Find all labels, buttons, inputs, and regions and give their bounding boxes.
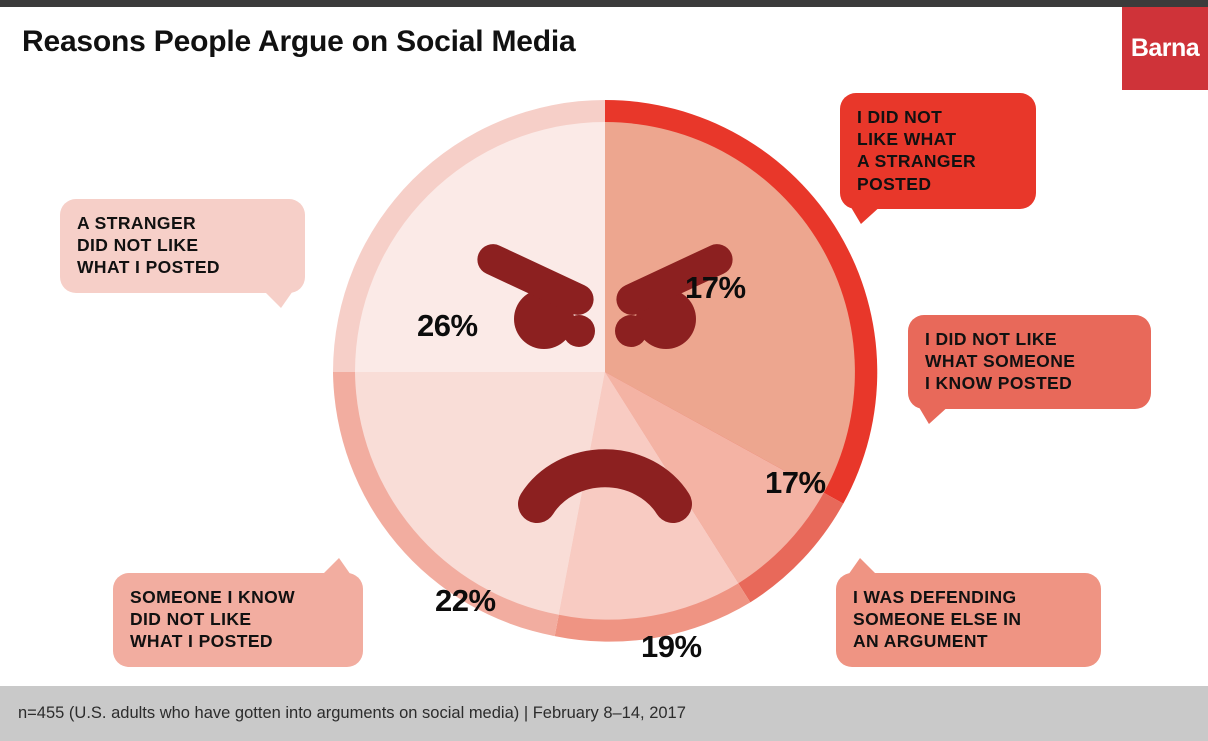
callout-line: DID NOT LIKE	[77, 234, 289, 256]
footer-bar: n=455 (U.S. adults who have gotten into …	[0, 686, 1208, 741]
pie-chart-svg	[325, 92, 885, 652]
footer-note: n=455 (U.S. adults who have gotten into …	[18, 704, 686, 723]
callout-stranger-posted[interactable]: I DID NOT LIKE WHAT A STRANGER POSTED	[840, 93, 1036, 209]
pie-label-17-someone-i-know-posted: 17%	[765, 465, 826, 501]
callout-someone-i-know-disliked[interactable]: SOMEONE I KNOW DID NOT LIKE WHAT I POSTE…	[113, 573, 363, 667]
callout-defending-someone[interactable]: I WAS DEFENDING SOMEONE ELSE IN AN ARGUM…	[836, 573, 1101, 667]
callout-line: I WAS DEFENDING	[853, 586, 1085, 608]
infographic-canvas: Reasons People Argue on Social Media Bar…	[0, 0, 1208, 741]
bubble-tail	[846, 558, 880, 578]
callout-line: WHAT I POSTED	[130, 630, 347, 652]
pie-label-22-someone-i-know-disliked: 22%	[435, 583, 496, 619]
brand-logo-text: Barna	[1131, 36, 1199, 61]
callout-line: POSTED	[857, 173, 1020, 195]
callout-stranger-disliked[interactable]: A STRANGER DID NOT LIKE WHAT I POSTED	[60, 199, 305, 293]
page-title: Reasons People Argue on Social Media	[22, 25, 576, 59]
callout-line: WHAT SOMEONE	[925, 350, 1135, 372]
top-rule-divider	[0, 0, 1208, 7]
bubble-tail	[847, 204, 883, 224]
callout-line: SOMEONE I KNOW	[130, 586, 347, 608]
pie-label-17-stranger-posted: 17%	[685, 270, 746, 306]
callout-line: SOMEONE ELSE IN	[853, 608, 1085, 630]
brand-logo: Barna	[1122, 7, 1208, 90]
callout-line: I DID NOT	[857, 106, 1020, 128]
callout-line: A STRANGER	[77, 212, 289, 234]
bubble-tail	[915, 404, 951, 424]
callout-line: I KNOW POSTED	[925, 372, 1135, 394]
pie-label-19-defending-someone: 19%	[641, 629, 702, 665]
callout-someone-i-know-posted[interactable]: I DID NOT LIKE WHAT SOMEONE I KNOW POSTE…	[908, 315, 1151, 409]
callout-line: A STRANGER	[857, 150, 1020, 172]
callout-line: AN ARGUMENT	[853, 630, 1085, 652]
callout-line: I DID NOT LIKE	[925, 328, 1135, 350]
bubble-tail	[319, 558, 353, 578]
pie-label-26-stranger-disliked: 26%	[417, 308, 478, 344]
callout-line: LIKE WHAT	[857, 128, 1020, 150]
pie-chart: 17% 17% 19% 22% 26%	[325, 92, 885, 652]
bubble-tail	[261, 288, 295, 308]
callout-line: DID NOT LIKE	[130, 608, 347, 630]
callout-line: WHAT I POSTED	[77, 256, 289, 278]
